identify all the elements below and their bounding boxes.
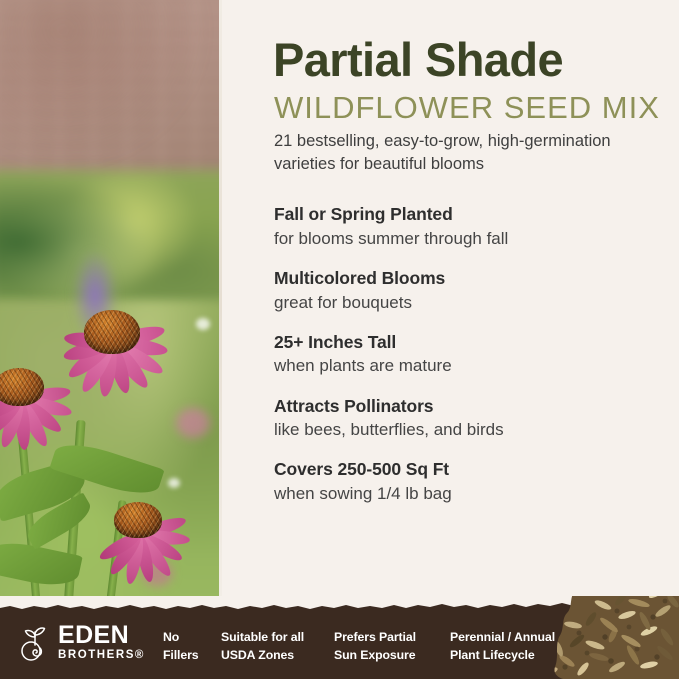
content-panel: Partial Shade WILDFLOWER SEED MIX 21 bes… (222, 0, 679, 608)
feature-item: Fall or Spring Planted for blooms summer… (274, 203, 674, 250)
footer-badge-usda-zones: Suitable for all USDA Zones (221, 629, 304, 665)
feature-title: Fall or Spring Planted (274, 203, 674, 226)
footer-badge-line2: Plant Lifecycle (450, 647, 555, 665)
footer-badge-plant-lifecycle: Perennial / Annual Plant Lifecycle (450, 629, 555, 665)
footer-badge-sun-exposure: Prefers Partial Sun Exposure (334, 629, 416, 665)
page-subtitle: WILDFLOWER SEED MIX (274, 92, 660, 123)
coneflower-center (84, 310, 140, 354)
logo-primary-text: EDEN (58, 624, 145, 648)
feature-title: Multicolored Blooms (274, 267, 674, 290)
logo-wordmark: EDEN BROTHERS® (58, 624, 145, 661)
coneflower-garden-photo (0, 0, 222, 608)
coneflower-blossom (0, 350, 76, 450)
feature-item: Covers 250-500 Sq Ft when sowing 1/4 lb … (274, 458, 674, 505)
sprout-seed-icon (18, 624, 52, 662)
feature-subtitle: like bees, butterflies, and birds (274, 419, 674, 441)
torn-paper-edge (0, 596, 679, 616)
feature-subtitle: when plants are mature (274, 355, 674, 377)
coneflower-center (114, 502, 162, 538)
footer-badge-line2: USDA Zones (221, 647, 304, 665)
pink-flower-blur (176, 408, 210, 438)
feature-subtitle: for blooms summer through fall (274, 228, 674, 250)
footer-badge-line1: Prefers Partial (334, 629, 416, 647)
white-flower-blur (196, 318, 210, 330)
footer-badge-line1: Perennial / Annual (450, 629, 555, 647)
product-infographic: Partial Shade WILDFLOWER SEED MIX 21 bes… (0, 0, 679, 679)
feature-title: 25+ Inches Tall (274, 331, 674, 354)
product-description: 21 bestselling, easy-to-grow, high-germi… (274, 130, 674, 177)
feature-title: Covers 250-500 Sq Ft (274, 458, 674, 481)
logo-secondary-text: BROTHERS® (58, 649, 145, 662)
feature-item: 25+ Inches Tall when plants are mature (274, 331, 674, 378)
feature-item: Attracts Pollinators like bees, butterfl… (274, 395, 674, 442)
coneflower-blossom (86, 486, 194, 584)
page-title: Partial Shade (273, 36, 563, 83)
footer-badge-line1: Suitable for all (221, 629, 304, 647)
feature-title: Attracts Pollinators (274, 395, 674, 418)
wall-shadow (0, 0, 222, 190)
footer-badge-no-fillers: No Fillers (163, 629, 199, 665)
footer-badge-line1: No (163, 629, 199, 647)
feature-item: Multicolored Blooms great for bouquets (274, 267, 674, 314)
feature-list: Fall or Spring Planted for blooms summer… (274, 203, 674, 522)
coneflower-center (0, 368, 44, 406)
brand-logo[interactable]: EDEN BROTHERS® (18, 620, 153, 666)
footer-badge-line2: Sun Exposure (334, 647, 416, 665)
feature-subtitle: when sowing 1/4 lb bag (274, 483, 674, 505)
footer-badge-line2: Fillers (163, 647, 199, 665)
feature-subtitle: great for bouquets (274, 292, 674, 314)
